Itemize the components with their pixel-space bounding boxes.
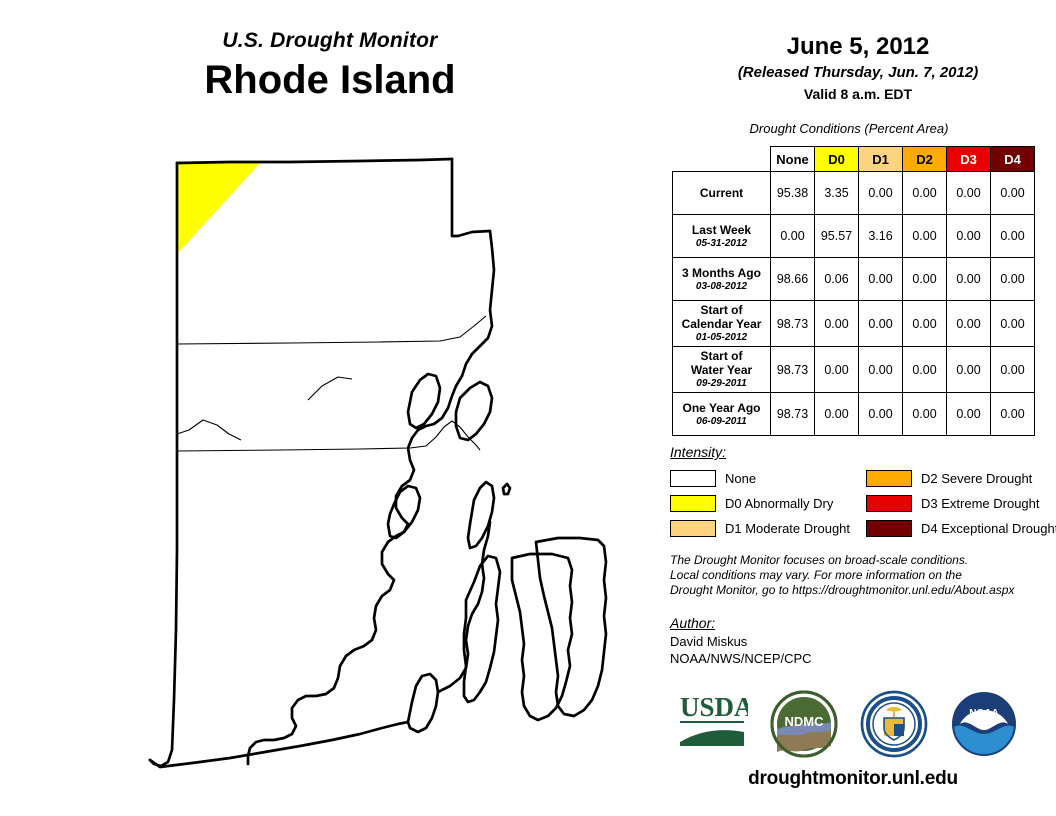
legend-item-none: None [670,466,850,491]
rhode-island-map-svg [60,130,660,790]
cell-calyear-d0: 0.00 [815,301,859,347]
cell-calyear-d4: 0.00 [991,301,1035,347]
map-canvas-final-clear [60,130,660,790]
row-date: 05-31-2012 [675,238,768,250]
intensity-legend: Intensity: None D0 Abnormally Dry D1 Mod… [670,443,1056,541]
legend-grid: None D0 Abnormally Dry D1 Moderate Droug… [670,466,1056,541]
cell-wateryear-d4: 0.00 [991,347,1035,393]
cell-current-d0: 3.35 [815,172,859,215]
note-line-3: Drought Monitor, go to https://droughtmo… [670,583,1056,598]
col-header-d0: D0 [815,147,859,172]
drought-conditions-table: None D0 D1 D2 D3 D4 Current 95.38 3.35 0… [672,146,1035,436]
col-header-d3: D3 [947,147,991,172]
note-line-2: Local conditions may vary. For more info… [670,568,1056,583]
row-label-current: Current [673,172,771,215]
row-date: 06-09-2011 [675,416,768,428]
legend-label-d4: D4 Exceptional Drought [921,521,1056,536]
noaa-logo: NOAA [950,690,1018,758]
row-date: 01-05-2012 [675,332,768,344]
table-row: Last Week 05-31-2012 0.00 95.57 3.16 0.0… [673,215,1035,258]
legend-item-d0: D0 Abnormally Dry [670,491,850,516]
site-url: droughtmonitor.unl.edu [660,768,1046,790]
cell-lastweek-d1: 3.16 [859,215,903,258]
legend-label-d0: D0 Abnormally Dry [725,496,833,511]
legend-column-left: None D0 Abnormally Dry D1 Moderate Droug… [670,466,850,541]
state-name-title: Rhode Island [0,56,660,104]
ndmc-logo-svg: NDMC [770,690,838,758]
right-panel: June 5, 2012 (Released Thursday, Jun. 7,… [660,0,1056,816]
note-line-1: The Drought Monitor focuses on broad-sca… [670,553,1056,568]
table-header-row: None D0 D1 D2 D3 D4 [673,147,1035,172]
doc-logo-svg [860,690,928,758]
table-row: Start of Calendar Year 01-05-2012 98.73 … [673,301,1035,347]
noaa-logo-text: NOAA [969,708,998,719]
cell-lastweek-d2: 0.00 [903,215,947,258]
drought-map [60,130,660,790]
cell-calyear-none: 98.73 [771,301,815,347]
date-block: June 5, 2012 (Released Thursday, Jun. 7,… [660,32,1056,104]
table-caption: Drought Conditions (Percent Area) [660,121,1038,136]
table-row: Current 95.38 3.35 0.00 0.00 0.00 0.00 [673,172,1035,215]
cell-3months-d4: 0.00 [991,258,1035,301]
author-organization: NOAA/NWS/NCEP/CPC [670,650,1056,667]
doc-logo [860,690,928,758]
table-corner-cell [673,147,771,172]
cell-lastweek-d0: 95.57 [815,215,859,258]
cell-current-d1: 0.00 [859,172,903,215]
released-date: (Released Thursday, Jun. 7, 2012) [660,63,1056,83]
author-heading: Author: [670,614,1056,633]
swatch-d2-icon [866,470,912,487]
row-label-one-year-ago: One Year Ago 06-09-2011 [673,393,771,436]
legend-label-none: None [725,471,756,486]
swatch-d1-icon [670,520,716,537]
row-title: Start of Water Year [691,349,752,377]
swatch-d3-icon [866,495,912,512]
legend-item-d2: D2 Severe Drought [866,466,1056,491]
cell-3months-d3: 0.00 [947,258,991,301]
cell-wateryear-d1: 0.00 [859,347,903,393]
cell-calyear-d2: 0.00 [903,301,947,347]
row-label-3-months-ago: 3 Months Ago 03-08-2012 [673,258,771,301]
legend-label-d3: D3 Extreme Drought [921,496,1040,511]
legend-item-d4: D4 Exceptional Drought [866,516,1056,541]
author-name: David Miskus [670,633,1056,650]
intensity-heading: Intensity: [670,443,1056,461]
row-label-last-week: Last Week 05-31-2012 [673,215,771,258]
noaa-logo-svg: NOAA [950,690,1018,758]
cell-oneyear-d2: 0.00 [903,393,947,436]
legend-item-d3: D3 Extreme Drought [866,491,1056,516]
table-row: Start of Water Year 09-29-2011 98.73 0.0… [673,347,1035,393]
cell-wateryear-d3: 0.00 [947,347,991,393]
cell-3months-d1: 0.00 [859,258,903,301]
valid-time: Valid 8 a.m. EDT [660,85,1056,104]
usda-logo: USDA [678,690,748,750]
usda-logo-text: USDA [680,692,748,722]
cell-current-none: 95.38 [771,172,815,215]
legend-item-d1: D1 Moderate Drought [670,516,850,541]
logos-row: USDA NDMC [670,690,1056,764]
legend-column-right: D2 Severe Drought D3 Extreme Drought D4 … [866,466,1056,541]
usda-logo-svg: USDA [678,690,748,750]
row-title: Current [700,186,743,200]
cell-calyear-d3: 0.00 [947,301,991,347]
cell-3months-none: 98.66 [771,258,815,301]
cell-wateryear-d2: 0.00 [903,347,947,393]
row-date: 03-08-2012 [675,281,768,293]
table-row: 3 Months Ago 03-08-2012 98.66 0.06 0.00 … [673,258,1035,301]
cell-wateryear-none: 98.73 [771,347,815,393]
col-header-none: None [771,147,815,172]
row-date: 09-29-2011 [675,378,768,390]
row-label-start-calendar-year: Start of Calendar Year 01-05-2012 [673,301,771,347]
author-block: Author: David Miskus NOAA/NWS/NCEP/CPC [670,614,1056,667]
cell-current-d4: 0.00 [991,172,1035,215]
cell-3months-d2: 0.00 [903,258,947,301]
cell-oneyear-d3: 0.00 [947,393,991,436]
col-header-d1: D1 [859,147,903,172]
cell-oneyear-d1: 0.00 [859,393,903,436]
disclaimer-note: The Drought Monitor focuses on broad-sca… [670,553,1056,598]
cell-oneyear-d4: 0.00 [991,393,1035,436]
row-title: One Year Ago [682,401,760,415]
cell-3months-d0: 0.06 [815,258,859,301]
cell-lastweek-d4: 0.00 [991,215,1035,258]
legend-label-d2: D2 Severe Drought [921,471,1032,486]
ndmc-logo: NDMC [770,690,838,758]
col-header-d2: D2 [903,147,947,172]
swatch-d0-icon [670,495,716,512]
title-block: U.S. Drought Monitor Rhode Island [0,28,660,104]
row-title: Last Week [692,223,751,237]
swatch-d4-icon [866,520,912,537]
cell-wateryear-d0: 0.00 [815,347,859,393]
legend-label-d1: D1 Moderate Drought [725,521,850,536]
table-row: One Year Ago 06-09-2011 98.73 0.00 0.00 … [673,393,1035,436]
row-title: 3 Months Ago [682,266,761,280]
cell-oneyear-none: 98.73 [771,393,815,436]
ndmc-logo-text: NDMC [785,714,825,729]
row-label-start-water-year: Start of Water Year 09-29-2011 [673,347,771,393]
cell-lastweek-none: 0.00 [771,215,815,258]
cell-lastweek-d3: 0.00 [947,215,991,258]
col-header-d4: D4 [991,147,1035,172]
row-title: Start of Calendar Year [682,303,762,331]
valid-date: June 5, 2012 [660,32,1056,62]
cell-current-d3: 0.00 [947,172,991,215]
cell-current-d2: 0.00 [903,172,947,215]
cell-oneyear-d0: 0.00 [815,393,859,436]
page-title: U.S. Drought Monitor [0,28,660,54]
swatch-none-icon [670,470,716,487]
cell-calyear-d1: 0.00 [859,301,903,347]
